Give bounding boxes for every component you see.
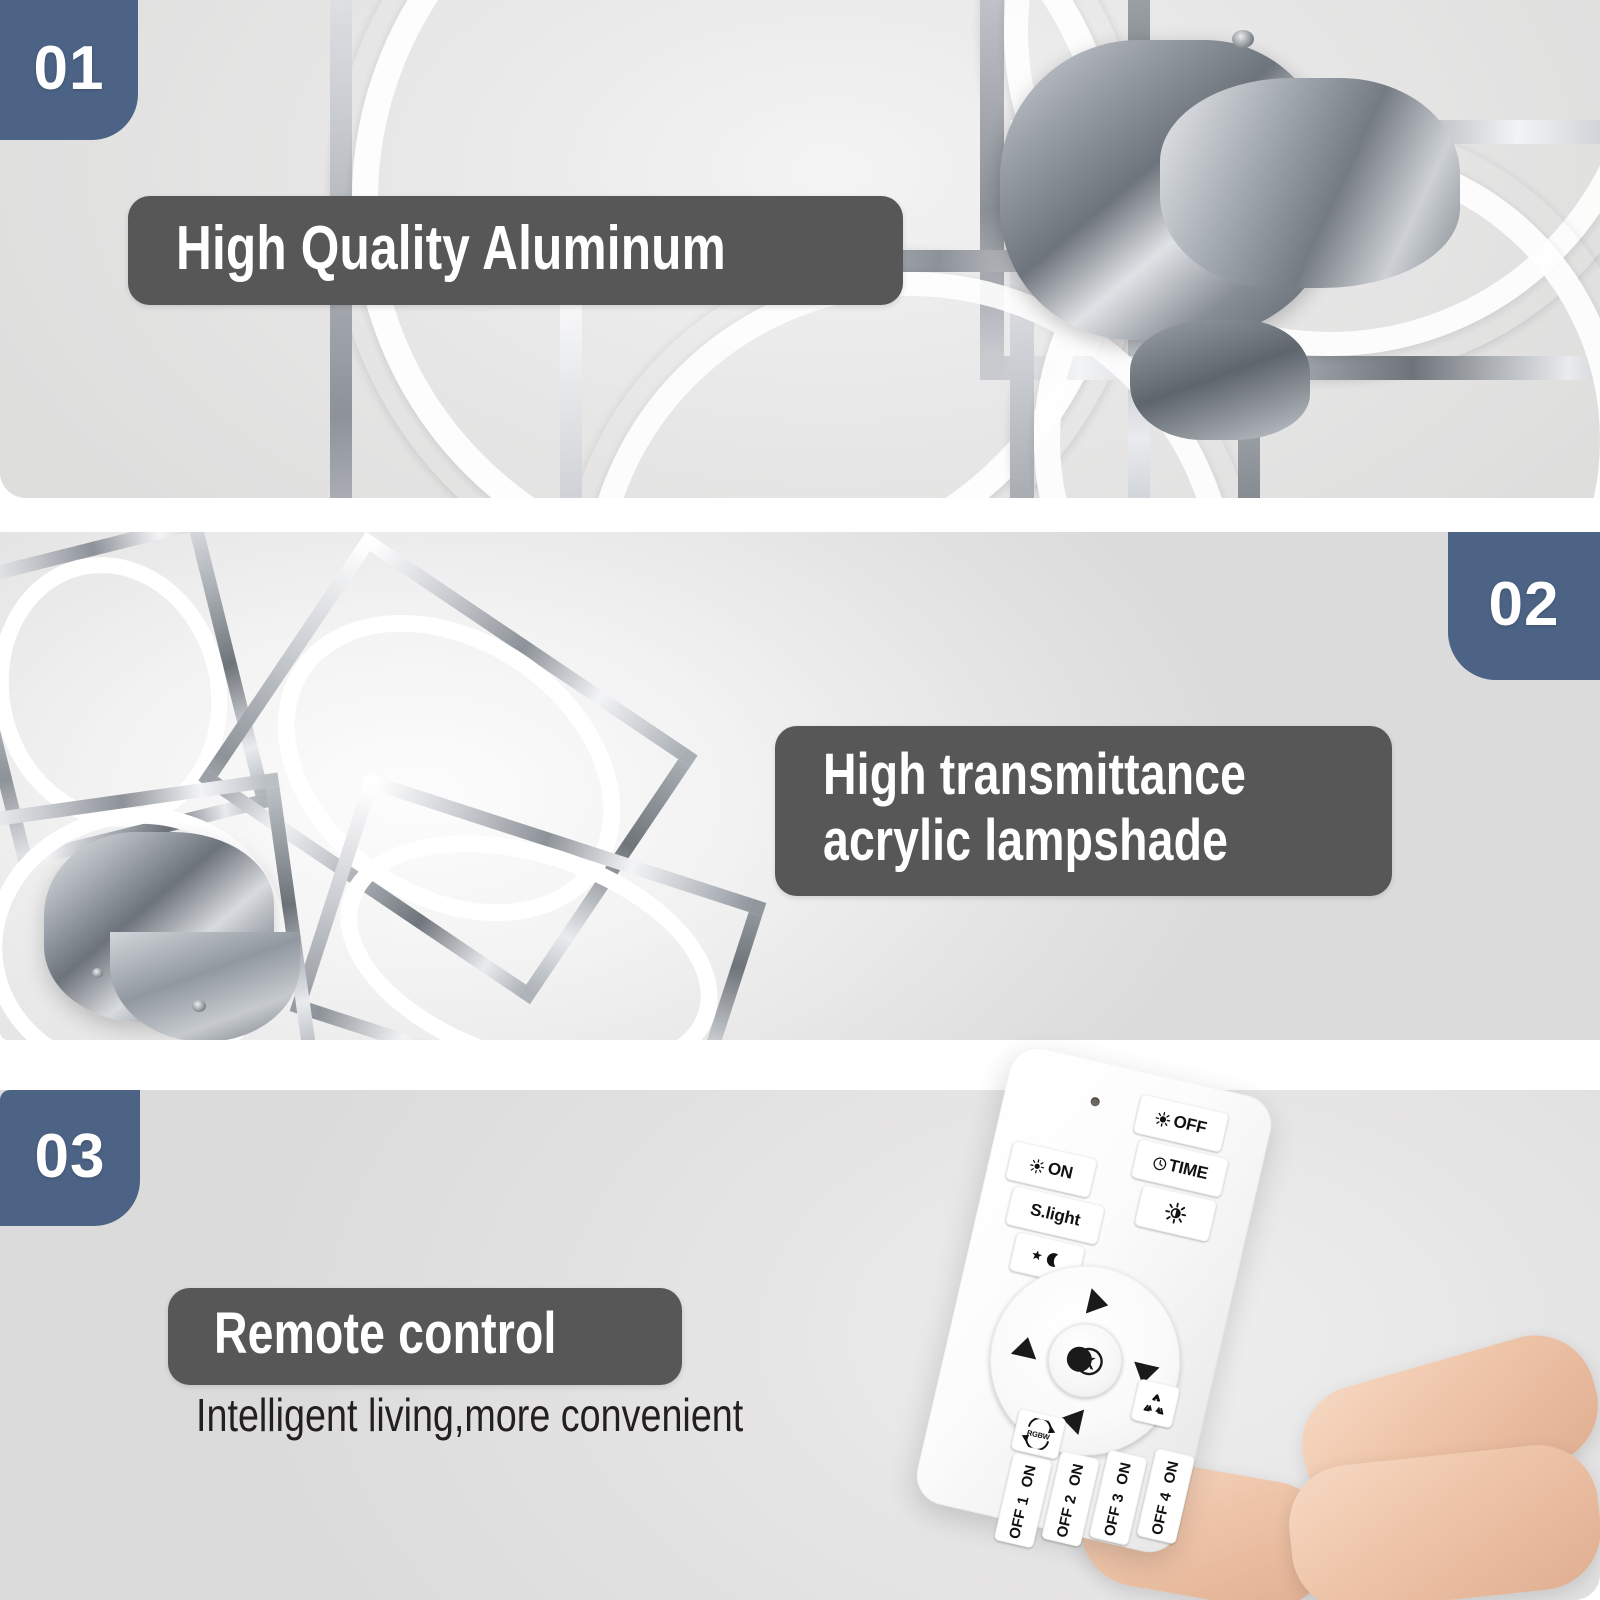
panel-divider bbox=[0, 498, 1600, 532]
channel-on-label: ON bbox=[1018, 1464, 1040, 1490]
channel-on-label: ON bbox=[1160, 1460, 1182, 1486]
section-badge-03: 03 bbox=[0, 1090, 140, 1226]
panel-divider bbox=[0, 1040, 1600, 1090]
dpad-left-arrow[interactable] bbox=[1011, 1334, 1041, 1359]
button-label: OFF bbox=[1171, 1112, 1208, 1139]
mounting-screw bbox=[1232, 30, 1254, 48]
svg-text:RGBW: RGBW bbox=[1026, 1428, 1051, 1442]
channel-off-label: OFF bbox=[1006, 1507, 1029, 1540]
badge-number: 01 bbox=[34, 33, 105, 104]
feature-title-line: High transmittance bbox=[823, 742, 1246, 808]
badge-number: 02 bbox=[1489, 569, 1560, 640]
moon-star-icon bbox=[1029, 1246, 1066, 1271]
sun-filled-icon bbox=[1154, 1110, 1172, 1128]
channel-on-label: ON bbox=[1065, 1462, 1087, 1488]
product-feature-page: 01 High Quality Aluminum 02 bbox=[0, 0, 1600, 1600]
channel-off-label: OFF bbox=[1054, 1506, 1077, 1539]
chrome-hub-facet bbox=[1160, 78, 1460, 288]
button-label: ON bbox=[1046, 1159, 1075, 1184]
rgbw-cycle-icon: RGBW bbox=[1019, 1416, 1059, 1453]
brightness-icon bbox=[1162, 1200, 1188, 1226]
section-badge-01: 01 bbox=[0, 0, 138, 140]
channel-number: 1 bbox=[1014, 1494, 1032, 1506]
feature-title-line: High Quality Aluminum bbox=[176, 214, 726, 283]
channel-number: 4 bbox=[1157, 1490, 1175, 1502]
channel-off-label: OFF bbox=[1149, 1503, 1172, 1536]
dpad-control[interactable]: K bbox=[971, 1247, 1199, 1475]
chrome-hub-facet bbox=[1130, 320, 1310, 440]
button-label: TIME bbox=[1167, 1156, 1210, 1184]
channel-on-label: ON bbox=[1113, 1461, 1135, 1487]
button-label: S.light bbox=[1028, 1200, 1082, 1231]
section-badge-02: 02 bbox=[1448, 532, 1600, 680]
mounting-screw bbox=[192, 1000, 206, 1012]
channel-off-label: OFF bbox=[1101, 1505, 1124, 1538]
feature-title-line: acrylic lampshade bbox=[823, 808, 1228, 874]
feature-subtitle-03: Intelligent living,more convenient bbox=[196, 1388, 743, 1442]
feature-title-pill-02: High transmittance acrylic lampshade bbox=[775, 726, 1392, 896]
dpad-up-arrow[interactable] bbox=[1086, 1288, 1111, 1318]
clock-icon bbox=[1151, 1154, 1169, 1172]
sun-icon bbox=[1029, 1157, 1047, 1175]
ir-led-indicator bbox=[1090, 1096, 1101, 1107]
badge-number: 03 bbox=[35, 1121, 106, 1192]
feature-title-pill-01: High Quality Aluminum bbox=[128, 196, 903, 305]
mounting-screw bbox=[92, 968, 103, 978]
button-recycle[interactable] bbox=[1130, 1378, 1180, 1428]
feature-title-line: Remote control bbox=[214, 1302, 557, 1367]
svg-text:K: K bbox=[1081, 1352, 1098, 1373]
channel-number: 2 bbox=[1061, 1493, 1079, 1505]
feature-title-pill-03: Remote control bbox=[168, 1288, 682, 1385]
channel-number: 3 bbox=[1109, 1492, 1127, 1504]
dpad-center-button[interactable]: K bbox=[1041, 1316, 1130, 1405]
recycle-icon bbox=[1141, 1389, 1170, 1418]
k-power-icon: K bbox=[1056, 1338, 1114, 1383]
